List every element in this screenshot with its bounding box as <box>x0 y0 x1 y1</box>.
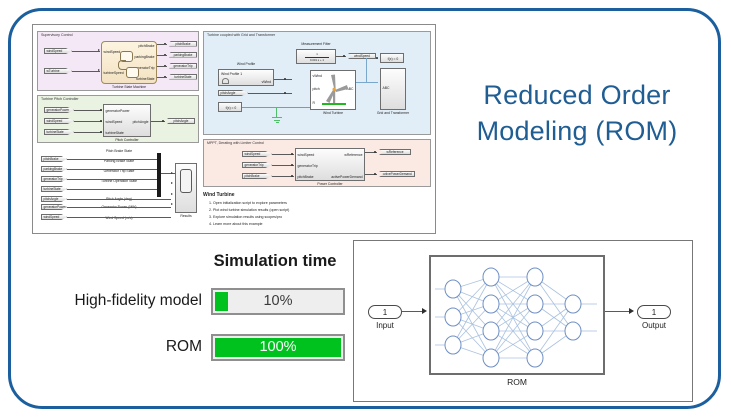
bar-label-high-fidelity: High-fidelity model <box>20 292 211 310</box>
group-mppt-control[interactable]: MPPT, Derating with Limiter Control wind… <box>203 139 431 187</box>
inport-windspeed-pitch[interactable]: windSpeed <box>44 118 74 124</box>
label-wind-profile: Wind Profile <box>220 62 272 66</box>
rom-block-caption: ROM <box>429 377 605 387</box>
outport-pitchbrake[interactable]: pitchBrake <box>169 41 197 47</box>
outport-wreference[interactable]: wReference <box>379 149 411 155</box>
bar-label-rom: ROM <box>20 338 211 356</box>
pc-in-windspeed: windSpeed <box>106 120 123 124</box>
outport-parkingbrake[interactable]: parkingBrake <box>169 52 197 58</box>
page-title-line-2: Modeling (ROM) <box>441 114 713 150</box>
block-measurement-filter[interactable]: 1 0.001 s + 1 <box>296 49 336 64</box>
powc-in-pitchbrake: pitchBrake <box>298 175 314 179</box>
sig-inport-0[interactable]: pitchBrake <box>41 156 67 162</box>
notes-item-0[interactable]: 1. Open initialization script to explore… <box>209 201 287 205</box>
inport-windspeed-mppt[interactable]: windSpeed <box>242 151 272 157</box>
filter-numerator: 1 <box>297 52 337 56</box>
group-turbine-pitch-controller[interactable]: Turbine Pitch Controller generatorPower … <box>37 95 199 143</box>
state-transition-arc <box>118 60 126 70</box>
sig-inport-6[interactable]: windSpeed <box>41 214 67 220</box>
ground-reference-icon <box>276 122 279 123</box>
progress-bar-high-fidelity: 10% <box>211 288 345 315</box>
powc-out-activepower: activePowerDemand <box>331 175 362 179</box>
notes-heading: Wind Turbine <box>203 192 235 198</box>
sig-inport-3[interactable]: turbineState <box>41 186 67 192</box>
sm-in-turbinespeed: turbineSpeed <box>104 71 124 75</box>
outport-activepowerdemand[interactable]: activePowerDemand <box>379 171 415 177</box>
powc-in-generatortrip: generatorTrip <box>298 164 318 168</box>
inport-generatortrip-mppt[interactable]: generatorTrip <box>242 162 272 168</box>
sm-out-pitchbrake: pitchBrake <box>138 44 154 48</box>
sig-inport-4[interactable]: pitchAngle <box>41 196 67 202</box>
rom-output-arrow-icon <box>629 308 634 314</box>
caption-turbine-state-machine: Turbine State Machine <box>101 85 157 89</box>
notes-item-3[interactable]: 4. Learn more about this example <box>209 222 263 226</box>
rom-output-port-number: 1 <box>652 308 656 317</box>
group-turbine-grid-transformer[interactable]: Turbine coupled with Grid and Transforme… <box>203 31 431 135</box>
page-title: Reduced Order Modeling (ROM) <box>441 78 713 149</box>
powc-out-wreference: wReference <box>344 153 362 157</box>
pc-in-turbinestate: turbineState <box>106 131 124 135</box>
caption-scope-results: Results <box>175 214 197 218</box>
caption-wind-turbine: Wind Turbine <box>310 111 356 115</box>
progress-value-high-fidelity: 10% <box>213 293 343 309</box>
notes-block: Wind Turbine 1. Open initialization scri… <box>203 192 431 232</box>
sm-out-turbinestate: turbineState <box>136 77 154 81</box>
outport-generatortrip[interactable]: generatorTrip <box>169 63 197 69</box>
block-turbine-state-machine[interactable]: windSpeed turbineSpeed pitchBrake parkin… <box>101 41 157 84</box>
scope-screen <box>180 169 192 193</box>
rom-input-arrow-icon <box>422 308 427 314</box>
block-scope-results[interactable] <box>175 163 197 213</box>
wind-profile-name: Wind Profile 1 <box>221 72 242 76</box>
block-wind-profile-1[interactable]: Wind Profile 1 vWind <box>218 69 274 86</box>
rom-input-port-number: 1 <box>383 308 387 317</box>
inport-turbinestate-pitch[interactable]: turbineState <box>44 129 74 135</box>
rom-output-caption: Output <box>634 321 674 330</box>
sig-inport-5[interactable]: generatorPower <box>41 204 67 210</box>
rom-input-caption: Input <box>365 321 405 330</box>
label-measurement-filter: Measurement Filter <box>286 42 346 46</box>
rom-diagram-panel[interactable]: 1 Input <box>353 240 693 402</box>
inport-generatorpower[interactable]: generatorPower <box>44 107 74 113</box>
sig-label-0: Pitch Brake State <box>79 149 159 153</box>
block-fcn-zero-left[interactable]: f(x) = 0 <box>218 102 242 112</box>
progress-value-rom: 100% <box>213 339 343 355</box>
rom-output-port[interactable]: 1 <box>637 305 671 319</box>
slide-canvas: Supervisory Control windSpeed wTurbine w… <box>0 0 731 419</box>
block-grid-and-transformer[interactable]: ABC <box>380 68 406 110</box>
filter-denominator: 0.001 s + 1 <box>297 58 337 62</box>
outport-pitchangle[interactable]: pitchAngle <box>167 118 195 124</box>
wind-turbine-icon <box>311 71 357 111</box>
simulation-time-heading: Simulation time <box>205 252 345 271</box>
group-title-mppt: MPPT, Derating with Limiter Control <box>207 141 264 145</box>
gt-in-abc: ABC <box>383 86 390 90</box>
progress-bar-rom: 100% <box>211 334 345 361</box>
signal-routing-region[interactable]: pitchBrake parkingBrake generatorTrip tu… <box>39 147 199 229</box>
caption-grid-transformer: Grid and Transformer <box>370 111 416 115</box>
mux-block[interactable] <box>157 153 161 197</box>
notes-item-2[interactable]: 3. Explore simulation results using scop… <box>209 215 282 219</box>
powc-in-windspeed: windSpeed <box>298 153 315 157</box>
fcn-zero-text: f(x) = 0 <box>219 106 243 110</box>
outport-windspeed-filtered[interactable]: windSpeed <box>348 53 376 59</box>
simulink-model-panel[interactable]: Supervisory Control windSpeed wTurbine w… <box>32 24 436 234</box>
group-title-supervisory: Supervisory Control <box>41 33 73 37</box>
inport-pitchbrake-mppt[interactable]: pitchBrake <box>242 173 272 179</box>
state-node-b <box>126 67 139 78</box>
simulation-time-row-high-fidelity: High-fidelity model 10% <box>20 286 345 316</box>
wind-profile-out: vWind <box>262 80 271 84</box>
block-power-controller[interactable]: windSpeed generatorTrip pitchBrake wRefe… <box>295 148 365 181</box>
rom-neural-network-block[interactable] <box>429 255 605 375</box>
rom-input-port[interactable]: 1 <box>368 305 402 319</box>
grid-fcn-text: f(x) = 0 <box>381 57 405 61</box>
inport-pitchangle-grid[interactable]: pitchAngle <box>218 90 248 96</box>
group-supervisory-control[interactable]: Supervisory Control windSpeed wTurbine w… <box>37 31 199 91</box>
sm-in-windspeed: windSpeed <box>104 50 121 54</box>
pc-in-generatorpower: generatorPower <box>106 109 130 113</box>
sig-inport-2[interactable]: generatorTrip <box>41 176 67 182</box>
block-pitch-controller[interactable]: generatorPower windSpeed turbineState pi… <box>103 104 151 137</box>
block-fcn-zero-right[interactable]: f(x) = 0 <box>380 53 404 63</box>
turbine-status-bar <box>322 103 346 105</box>
inport-wturbine[interactable]: wTurbine <box>44 68 72 74</box>
caption-pitch-controller: Pitch Controller <box>103 138 151 142</box>
sm-out-parkingbrake: parkingBrake <box>135 55 155 59</box>
inport-windspeed[interactable]: windSpeed <box>44 48 72 54</box>
group-title-pitch: Turbine Pitch Controller <box>41 97 79 101</box>
wind-profile-icon <box>222 78 229 84</box>
caption-power-controller: Power Controller <box>295 182 365 186</box>
group-title-grid: Turbine coupled with Grid and Transforme… <box>207 33 275 37</box>
pc-out-pitchangle: pitchAngle <box>133 120 149 124</box>
outport-turbinestate[interactable]: turbineState <box>169 74 197 80</box>
simulation-time-section: Simulation time High-fidelity model 10% … <box>20 250 345 375</box>
notes-item-1[interactable]: 2. Plot wind turbine simulation results … <box>209 208 289 212</box>
simulation-time-row-rom: ROM 100% <box>20 332 345 362</box>
neural-network-graphic <box>431 257 607 377</box>
sig-inport-1[interactable]: parkingBrake <box>41 166 67 172</box>
block-wind-turbine[interactable]: vWind pitch R ABC <box>310 70 356 110</box>
page-title-line-1: Reduced Order <box>441 78 713 114</box>
